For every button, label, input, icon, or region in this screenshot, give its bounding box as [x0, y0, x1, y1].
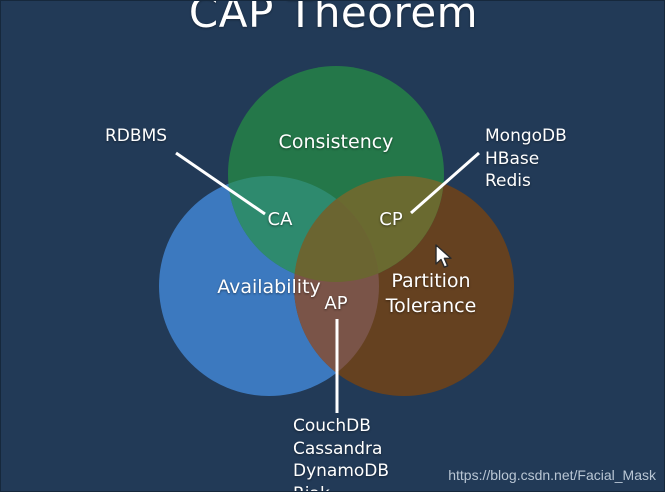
- venn-region-label-ap: AP: [301, 293, 371, 314]
- partition-label-line-2: Tolerance: [386, 295, 477, 317]
- slide-canvas: CAP Theorem: [0, 0, 665, 492]
- annotation-rdbms-line-1: RDBMS: [105, 125, 167, 148]
- venn-circle-consistency: [228, 66, 444, 282]
- annotation-nosql-cp-line-3: Redis: [485, 170, 567, 193]
- annotation-nosql-ap-line-4: Riak: [293, 483, 389, 492]
- annotation-nosql-cp-line-2: HBase: [485, 148, 567, 171]
- annotation-nosql-ap-line-2: Cassandra: [293, 438, 389, 461]
- annotation-nosql-ap: CouchDB Cassandra DynamoDB Riak: [293, 415, 389, 492]
- annotation-nosql-cp: MongoDB HBase Redis: [485, 125, 567, 193]
- annotation-nosql-cp-line-1: MongoDB: [485, 125, 567, 148]
- venn-label-partition-tolerance: Partition Tolerance: [356, 269, 506, 319]
- venn-label-consistency: Consistency: [256, 131, 416, 153]
- annotation-nosql-ap-line-3: DynamoDB: [293, 460, 389, 483]
- venn-region-label-cp: CP: [356, 209, 426, 230]
- partition-label-line-1: Partition: [391, 270, 470, 292]
- annotation-nosql-ap-line-1: CouchDB: [293, 415, 389, 438]
- watermark-url: https://blog.csdn.net/Facial_Mask: [448, 467, 656, 483]
- annotation-rdbms: RDBMS: [105, 125, 167, 148]
- venn-region-label-ca: CA: [245, 209, 315, 230]
